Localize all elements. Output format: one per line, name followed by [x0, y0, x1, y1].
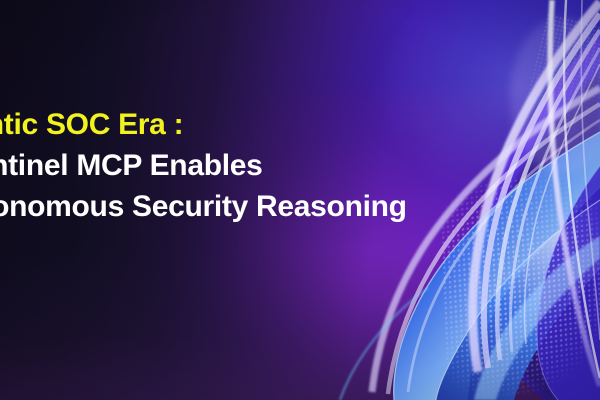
blog-hero-banner: Agentic SOC Era : Sentinel MCP Enables A…: [0, 0, 600, 400]
headline-line-2: Sentinel MCP Enables: [0, 145, 420, 186]
headline-block: Agentic SOC Era : Sentinel MCP Enables A…: [0, 104, 420, 227]
headline-line-1: Agentic SOC Era :: [0, 104, 420, 145]
headline-line-3: Autonomous Security Reasoning: [0, 186, 420, 227]
